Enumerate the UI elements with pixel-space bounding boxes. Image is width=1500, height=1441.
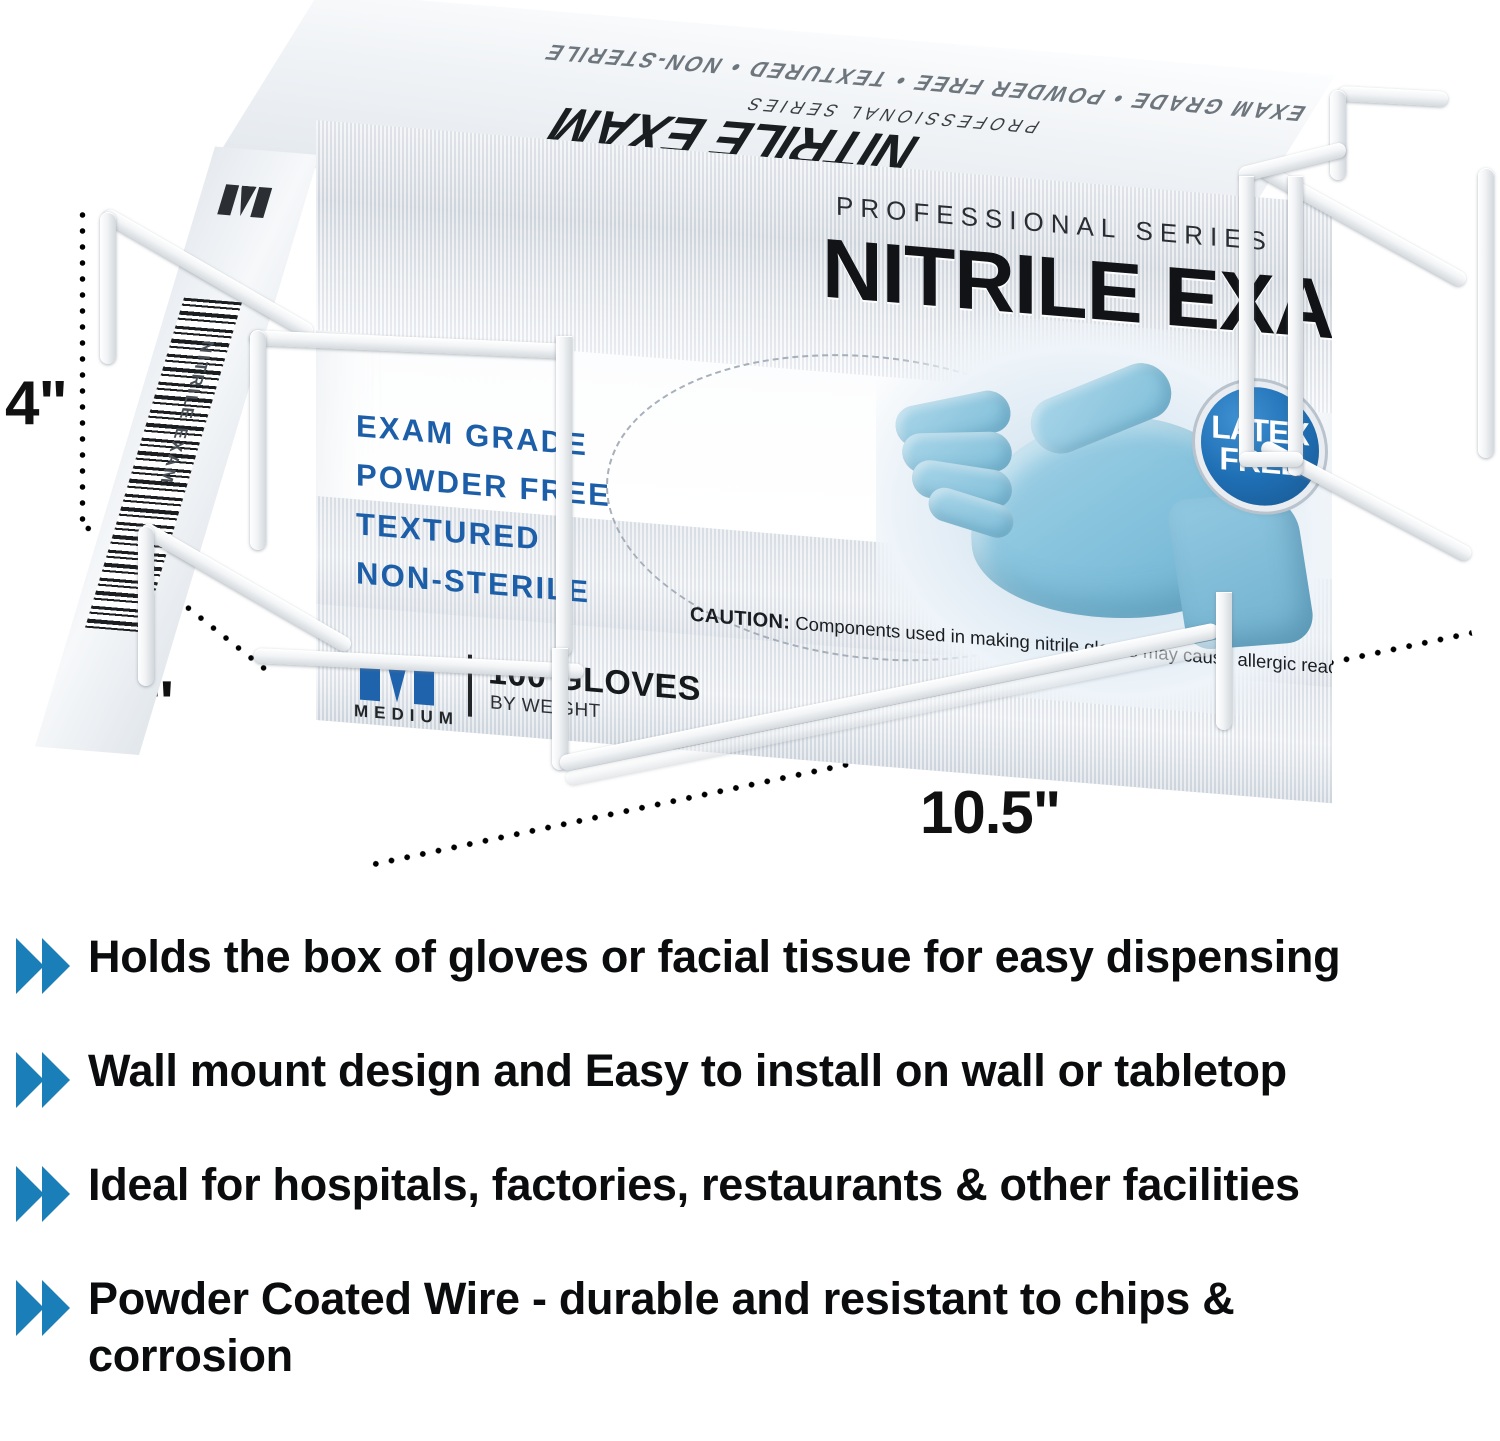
rack-wire-bottom-right-post xyxy=(1216,592,1232,730)
double-chevron-icon xyxy=(14,1162,74,1226)
feature-bullet-list: Holds the box of gloves or facial tissue… xyxy=(0,928,1500,1428)
bullet-item: Wall mount design and Easy to install on… xyxy=(0,1042,1500,1112)
rack-wire-bottom-left-post xyxy=(552,648,568,770)
rack-wire-back-post xyxy=(1330,90,1346,180)
rack-wire-left-top-post xyxy=(100,212,116,364)
bullet-item: Holds the box of gloves or facial tissue… xyxy=(0,928,1500,998)
rack-wire-right-post xyxy=(1478,168,1494,458)
bullet-text: Powder Coated Wire - durable and resista… xyxy=(74,1270,1268,1384)
feature-list: EXAM GRADE POWDER FREE TEXTURED NON-STER… xyxy=(356,401,611,618)
rack-wire-clip-left xyxy=(1239,176,1254,466)
double-chevron-icon xyxy=(14,1048,74,1112)
double-chevron-icon xyxy=(14,1276,74,1340)
bullet-item: Powder Coated Wire - durable and resista… xyxy=(0,1270,1500,1384)
product-photo-stage: 4" 3.5" 10.5" EXAM GRADE • POWDER FREE •… xyxy=(0,0,1500,920)
glove-box-and-wire-rack: EXAM GRADE • POWDER FREE • TEXTURED • NO… xyxy=(0,0,1500,920)
rack-wire-left-bottom-post xyxy=(138,526,154,686)
rack-wire-back-rail xyxy=(1338,86,1449,107)
side-size-logo-icon xyxy=(217,184,272,218)
rack-wire-clip-bottom xyxy=(1239,452,1303,467)
bullet-text: Ideal for hospitals, factories, restaura… xyxy=(74,1156,1300,1213)
bullet-text: Wall mount design and Easy to install on… xyxy=(74,1042,1287,1099)
rack-wire-front-left-post xyxy=(250,330,266,550)
glove-box-front-face: PROFESSIONAL SERIES NITRILE EXAM EXAM GR… xyxy=(316,120,1332,803)
bullet-item: Ideal for hospitals, factories, restaura… xyxy=(0,1156,1500,1226)
rack-wire-left-u-side xyxy=(556,336,572,656)
glove-cuff xyxy=(1165,491,1317,651)
bullet-text: Holds the box of gloves or facial tissue… xyxy=(74,928,1340,985)
rack-wire-clip-right xyxy=(1288,176,1303,476)
double-chevron-icon xyxy=(14,934,74,998)
